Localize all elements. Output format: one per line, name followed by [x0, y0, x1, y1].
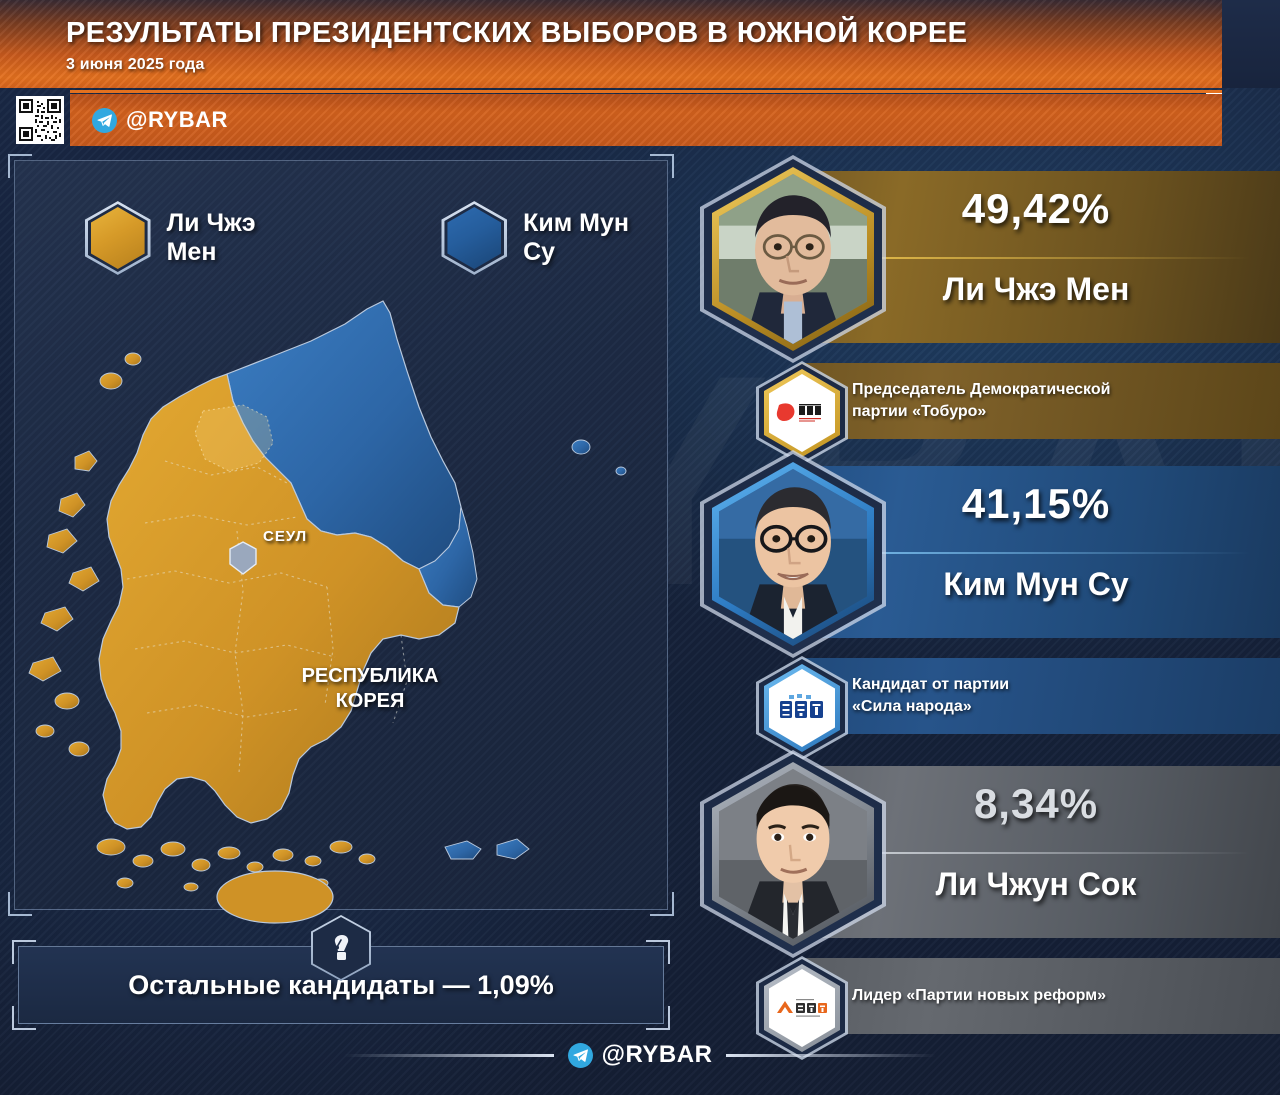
portrait-lee-jun-seok [700, 750, 886, 958]
footer-channel-label: @RYBAR [602, 1041, 713, 1069]
candidate-2-role: Кандидат от партии «Сила народа» [852, 658, 1270, 734]
map-capital-label: СЕУЛ [263, 528, 307, 545]
header-banner: РЕЗУЛЬТАТЫ ПРЕЗИДЕНТСКИХ ВЫБОРОВ В ЮЖНОЙ… [0, 0, 1280, 88]
legend-label-lee: Ли Чжэ Мен [167, 209, 312, 267]
candidate-3-role-line1: Лидер «Партии новых реформ» [852, 985, 1106, 1007]
footer-line-right [726, 1054, 936, 1057]
party-logo-minjoo [756, 656, 848, 760]
telegram-icon [92, 108, 117, 133]
channel-bar-strip [70, 94, 1222, 146]
portrait-kim-moon-soo [700, 450, 886, 658]
panel-corner-tr [650, 154, 674, 178]
panel-corner-tl [8, 154, 32, 178]
footer: @RYBAR [0, 1035, 1280, 1075]
candidate-1-party: Председатель Демократической партии «Тоб… [746, 363, 1280, 439]
telegram-icon [568, 1043, 593, 1068]
qr-code-icon[interactable] [16, 96, 64, 144]
candidate-3-role: Лидер «Партии новых реформ» [852, 958, 1270, 1034]
map-country-label: РЕСПУБЛИКА КОРЕЯ [285, 664, 455, 714]
map-country-label-line2: КОРЕЯ [336, 690, 405, 712]
candidate-3-party: Лидер «Партии новых реформ» [746, 958, 1280, 1034]
candidate-1-role: Председатель Демократической партии «Тоб… [852, 363, 1270, 439]
map-panel: Ли Чжэ Мен Ким Мун Су [14, 160, 668, 910]
candidate-1-role-line1: Председатель Демократической [852, 381, 1110, 398]
map-country-label-line1: РЕСПУБЛИКА [302, 665, 439, 687]
map-island-jeju [211, 863, 341, 933]
legend-label-kim: Ким Мун Су [523, 209, 667, 267]
map-islands-east [445, 440, 626, 859]
portrait-lee-jae-myung [700, 155, 886, 363]
footer-line-left [344, 1054, 554, 1057]
candidate-2-role-line2: «Сила народа» [852, 698, 972, 715]
infographic-page: @RYBAR РЕЗУЛЬТАТЫ ПРЕЗИДЕНТСКИХ ВЫБОРОВ … [0, 0, 1280, 1095]
channel-handle[interactable]: @RYBAR [92, 107, 228, 133]
page-subtitle: 3 июня 2025 года [66, 56, 205, 74]
page-title: РЕЗУЛЬТАТЫ ПРЕЗИДЕНТСКИХ ВЫБОРОВ В ЮЖНОЙ… [66, 17, 967, 50]
channel-handle-label: @RYBAR [126, 107, 228, 133]
candidate-2-party: Кандидат от партии «Сила народа» [746, 658, 1280, 734]
korea-map[interactable] [15, 261, 669, 911]
candidate-1-role-line2: партии «Тобуро» [852, 403, 986, 420]
candidate-2-role-line1: Кандидат от партии [852, 676, 1009, 693]
footer-channel[interactable]: @RYBAR [554, 1041, 727, 1069]
